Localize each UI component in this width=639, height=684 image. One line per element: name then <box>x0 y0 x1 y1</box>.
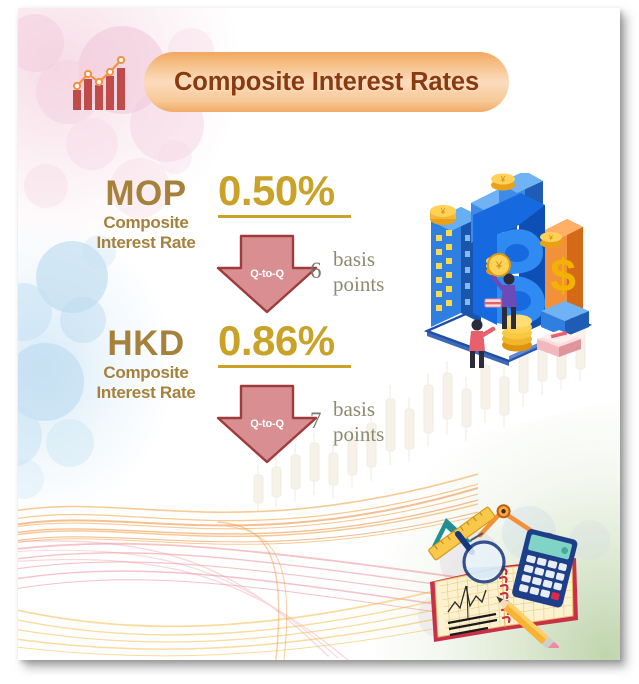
title-row: Composite Interest Rates <box>70 52 540 114</box>
rate-change-group-mop: Q-to-Q 6 basis points <box>215 234 425 314</box>
currency-label-group-hkd: HKD Composite Interest Rate <box>78 326 214 403</box>
currency-subtitle-line1-hkd: Composite <box>78 363 214 383</box>
change-unit-line2-mop: points <box>333 272 384 297</box>
rate-block-mop: MOP Composite Interest Rate 0.50% Q-to-Q… <box>78 176 418 311</box>
rate-value-hkd: 0.86% <box>218 320 418 362</box>
currency-subtitle-line2-hkd: Interest Rate <box>78 383 214 403</box>
svg-text:¥: ¥ <box>500 175 506 184</box>
rate-value-underline-hkd <box>218 365 351 368</box>
currency-code-hkd: HKD <box>78 326 214 361</box>
down-arrow-icon-hkd: Q-to-Q <box>215 384 319 464</box>
title-pill: Composite Interest Rates <box>144 52 509 112</box>
svg-text:$: $ <box>550 249 576 301</box>
notebook-calculator-stationery-icon <box>410 490 605 648</box>
page-title: Composite Interest Rates <box>144 52 509 112</box>
poster-root: Composite Interest Rates MOP Composite I… <box>0 0 639 684</box>
change-unit-line2-hkd: points <box>333 422 384 447</box>
currency-label-group-mop: MOP Composite Interest Rate <box>78 176 214 253</box>
bar-chart-growth-icon <box>70 54 132 112</box>
rate-value-underline-mop <box>218 215 351 218</box>
svg-text:¥: ¥ <box>495 260 503 272</box>
change-unit-line1-hkd: basis <box>333 397 384 422</box>
svg-text:¥: ¥ <box>549 235 553 242</box>
rate-value-group-mop: 0.50% <box>218 170 418 218</box>
change-number-mop: 6 <box>310 258 322 284</box>
rate-value-mop: 0.50% <box>218 170 418 212</box>
change-unit-mop: basis points <box>333 247 384 297</box>
rate-value-group-hkd: 0.86% <box>218 320 418 368</box>
rate-block-hkd: HKD Composite Interest Rate 0.86% Q-to-Q… <box>78 326 418 461</box>
ribbon-waves-decor <box>18 430 478 660</box>
change-unit-line1-mop: basis <box>333 247 384 272</box>
rate-change-group-hkd: Q-to-Q 7 basis points <box>215 384 425 464</box>
svg-text:¥: ¥ <box>440 207 446 216</box>
isometric-bank-building-icon: ¥ ¥ ¥ <box>413 173 598 368</box>
currency-subtitle-line1-mop: Composite <box>78 213 214 233</box>
poster-card: Composite Interest Rates MOP Composite I… <box>18 8 620 660</box>
currency-subtitle-line2-mop: Interest Rate <box>78 233 214 253</box>
down-arrow-icon-mop: Q-to-Q <box>215 234 319 314</box>
change-number-hkd: 7 <box>310 408 322 434</box>
change-unit-hkd: basis points <box>333 397 384 447</box>
currency-code-mop: MOP <box>78 176 214 211</box>
